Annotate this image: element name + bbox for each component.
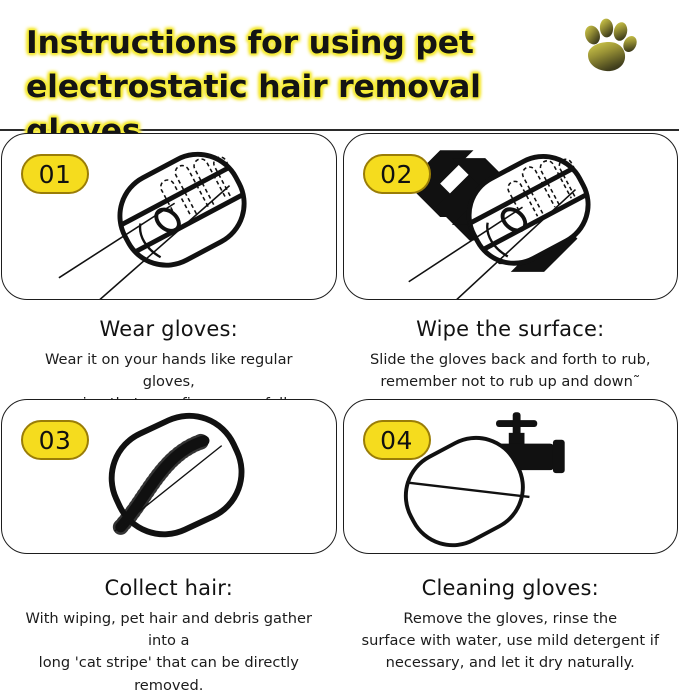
step-number-badge-02: 02 — [363, 154, 431, 194]
step-number-badge-04: 04 — [363, 420, 431, 460]
step-number-badge-01: 01 — [21, 154, 89, 194]
step-01-title: Wear gloves: — [7, 317, 331, 341]
step-number-badge-03: 03 — [21, 420, 89, 460]
paw-print-icon — [579, 16, 637, 78]
step-01-illustration-card: 01 — [1, 133, 337, 300]
header: Instructions for using pet electrostatic… — [0, 0, 679, 131]
step-card-02: 02 — [340, 131, 679, 397]
step-04-captions: Cleaning gloves: Remove the gloves, rins… — [343, 576, 679, 675]
step-02-body: Slide the gloves back and forth to rub, … — [349, 349, 673, 393]
steps-grid: 01 — [0, 131, 679, 679]
step-04-body: Remove the gloves, rinse the surface wit… — [349, 608, 673, 675]
step-card-01: 01 — [0, 131, 340, 397]
step-card-03: 03 Collect hair: With wiping, pet hair a… — [0, 397, 340, 679]
step-02-captions: Wipe the surface: Slide the gloves back … — [343, 317, 679, 393]
step-04-title: Cleaning gloves: — [349, 576, 673, 600]
steps-row-1: 01 — [0, 131, 679, 397]
step-card-04: 04 — [340, 397, 679, 679]
step-03-title: Collect hair: — [7, 576, 331, 600]
steps-row-2: 03 Collect hair: With wiping, pet hair a… — [0, 397, 679, 679]
step-04-illustration-card: 04 — [343, 399, 679, 554]
step-02-title: Wipe the surface: — [349, 317, 673, 341]
step-03-illustration-card: 03 — [1, 399, 337, 554]
step-02-illustration-card: 02 — [343, 133, 679, 300]
step-03-body: With wiping, pet hair and debris gather … — [7, 608, 331, 697]
